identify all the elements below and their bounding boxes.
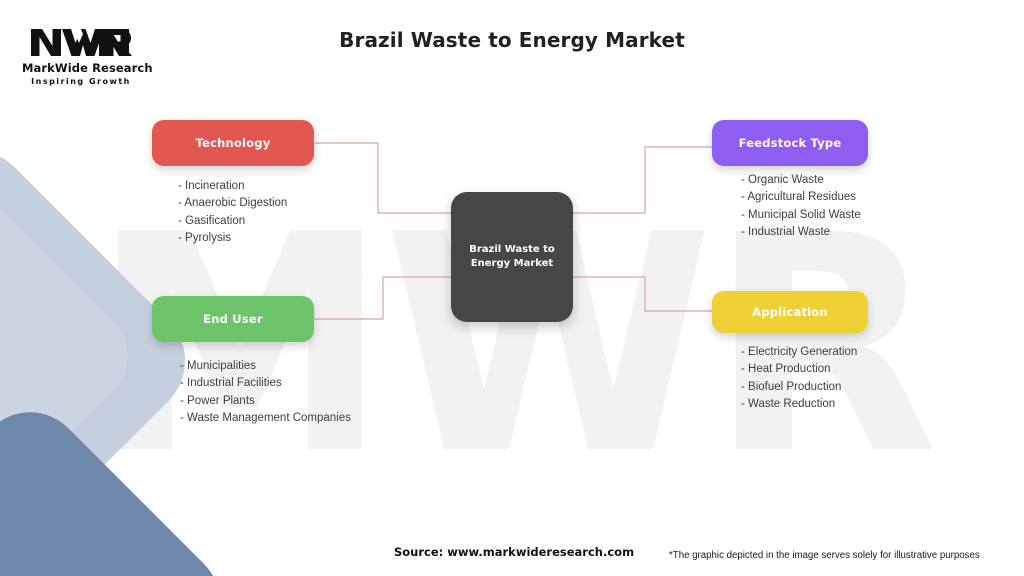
node-technology-label: Technology (196, 136, 271, 150)
list-item: - Municipalities (180, 358, 351, 375)
connector-enduser (314, 277, 451, 319)
list-item: - Pyrolysis (178, 230, 287, 247)
list-item: - Anaerobic Digestion (178, 195, 287, 212)
node-feedstock-type[interactable]: Feedstock Type (712, 120, 868, 166)
list-item: - Electricity Generation (741, 344, 857, 361)
list-item: - Waste Reduction (741, 396, 857, 413)
node-center-market-label: Brazil Waste to Energy Market (451, 243, 573, 271)
list-item: - Incineration (178, 178, 287, 195)
list-item: - Gasification (178, 213, 287, 230)
list-application: - Electricity Generation - Heat Producti… (741, 344, 857, 413)
node-technology[interactable]: Technology (152, 120, 314, 166)
list-item: - Power Plants (180, 393, 351, 410)
list-item: - Heat Production (741, 361, 857, 378)
list-item: - Agricultural Residues (741, 189, 861, 206)
list-item: - Organic Waste (741, 172, 861, 189)
list-item: - Biofuel Production (741, 379, 857, 396)
list-feedstock-type: - Organic Waste - Agricultural Residues … (741, 172, 861, 241)
list-item: - Municipal Solid Waste (741, 207, 861, 224)
node-application[interactable]: Application (712, 291, 868, 333)
node-end-user[interactable]: End User (152, 296, 314, 342)
disclaimer-text: *The graphic depicted in the image serve… (669, 550, 980, 561)
node-application-label: Application (752, 305, 828, 319)
list-end-user: - Municipalities - Industrial Facilities… (180, 358, 351, 427)
connector-application (573, 277, 712, 311)
diagram-canvas: MWR MarkWide Research Inspiring Growth B… (0, 0, 1024, 576)
list-item: - Industrial Facilities (180, 375, 351, 392)
list-technology: - Incineration - Anaerobic Digestion - G… (178, 178, 287, 247)
node-end-user-label: End User (203, 312, 263, 326)
list-item: - Waste Management Companies (180, 410, 351, 427)
node-feedstock-type-label: Feedstock Type (739, 136, 842, 150)
source-text: Source: www.markwideresearch.com (394, 545, 634, 559)
connector-technology (314, 143, 451, 213)
list-item: - Industrial Waste (741, 224, 861, 241)
node-center-market[interactable]: Brazil Waste to Energy Market (451, 192, 573, 322)
connector-feedstock (573, 147, 712, 213)
